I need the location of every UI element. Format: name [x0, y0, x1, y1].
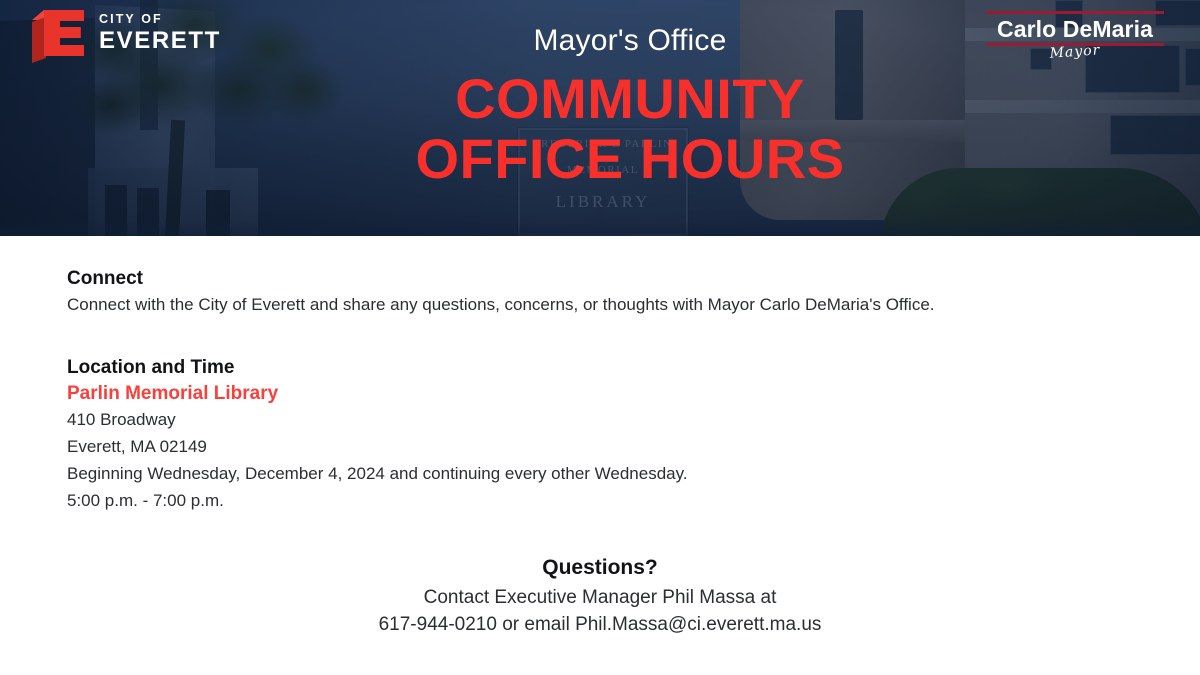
questions-section: Questions? Contact Executive Manager Phi… — [0, 556, 1200, 639]
mayor-name-label: Carlo DeMaria — [986, 17, 1164, 43]
venue-name: Parlin Memorial Library — [67, 382, 1200, 407]
hero-banner: FREDERICK E PARLIN MEMORIAL LIBRARY CITY… — [0, 0, 1200, 236]
e-block-front-face — [44, 10, 84, 56]
everett-e-block-icon — [32, 10, 90, 56]
questions-contact-line: Contact Executive Manager Phil Massa at — [0, 585, 1200, 612]
connect-section: Connect Connect with the City of Everett… — [67, 268, 1200, 317]
city-of-label: CITY OF — [99, 13, 221, 26]
everett-label: EVERETT — [99, 29, 221, 53]
body-content: Connect Connect with the City of Everett… — [0, 236, 1200, 514]
questions-heading: Questions? — [0, 556, 1200, 580]
connect-heading: Connect — [67, 268, 1200, 291]
location-and-time-section: Location and Time Parlin Memorial Librar… — [67, 357, 1200, 515]
questions-phone-email-line: 617-944-0210 or email Phil.Massa@ci.ever… — [0, 612, 1200, 639]
city-of-everett-wordmark: CITY OF EVERETT — [99, 13, 221, 53]
time-line: 5:00 p.m. - 7:00 p.m. — [67, 488, 1200, 515]
photo-bottom-fade — [0, 220, 1200, 236]
connect-text: Connect with the City of Everett and sha… — [67, 294, 1200, 317]
address-line-2: Everett, MA 02149 — [67, 434, 1200, 461]
city-of-everett-logo[interactable]: CITY OF EVERETT — [32, 10, 221, 56]
location-heading: Location and Time — [67, 357, 1200, 380]
e-block-side-face — [32, 17, 46, 63]
address-line-1: 410 Broadway — [67, 407, 1200, 434]
flyer-page: FREDERICK E PARLIN MEMORIAL LIBRARY CITY… — [0, 0, 1200, 675]
hero-title-line-2: OFFICE HOURS — [60, 132, 1200, 186]
schedule-line: Beginning Wednesday, December 4, 2024 an… — [67, 461, 1200, 488]
mayor-carlo-demaria-logo[interactable]: Carlo DeMaria Mayor — [986, 11, 1164, 60]
hero-title-line-1: COMMUNITY — [60, 72, 1200, 126]
mayor-logo-rule-top — [986, 11, 1164, 14]
